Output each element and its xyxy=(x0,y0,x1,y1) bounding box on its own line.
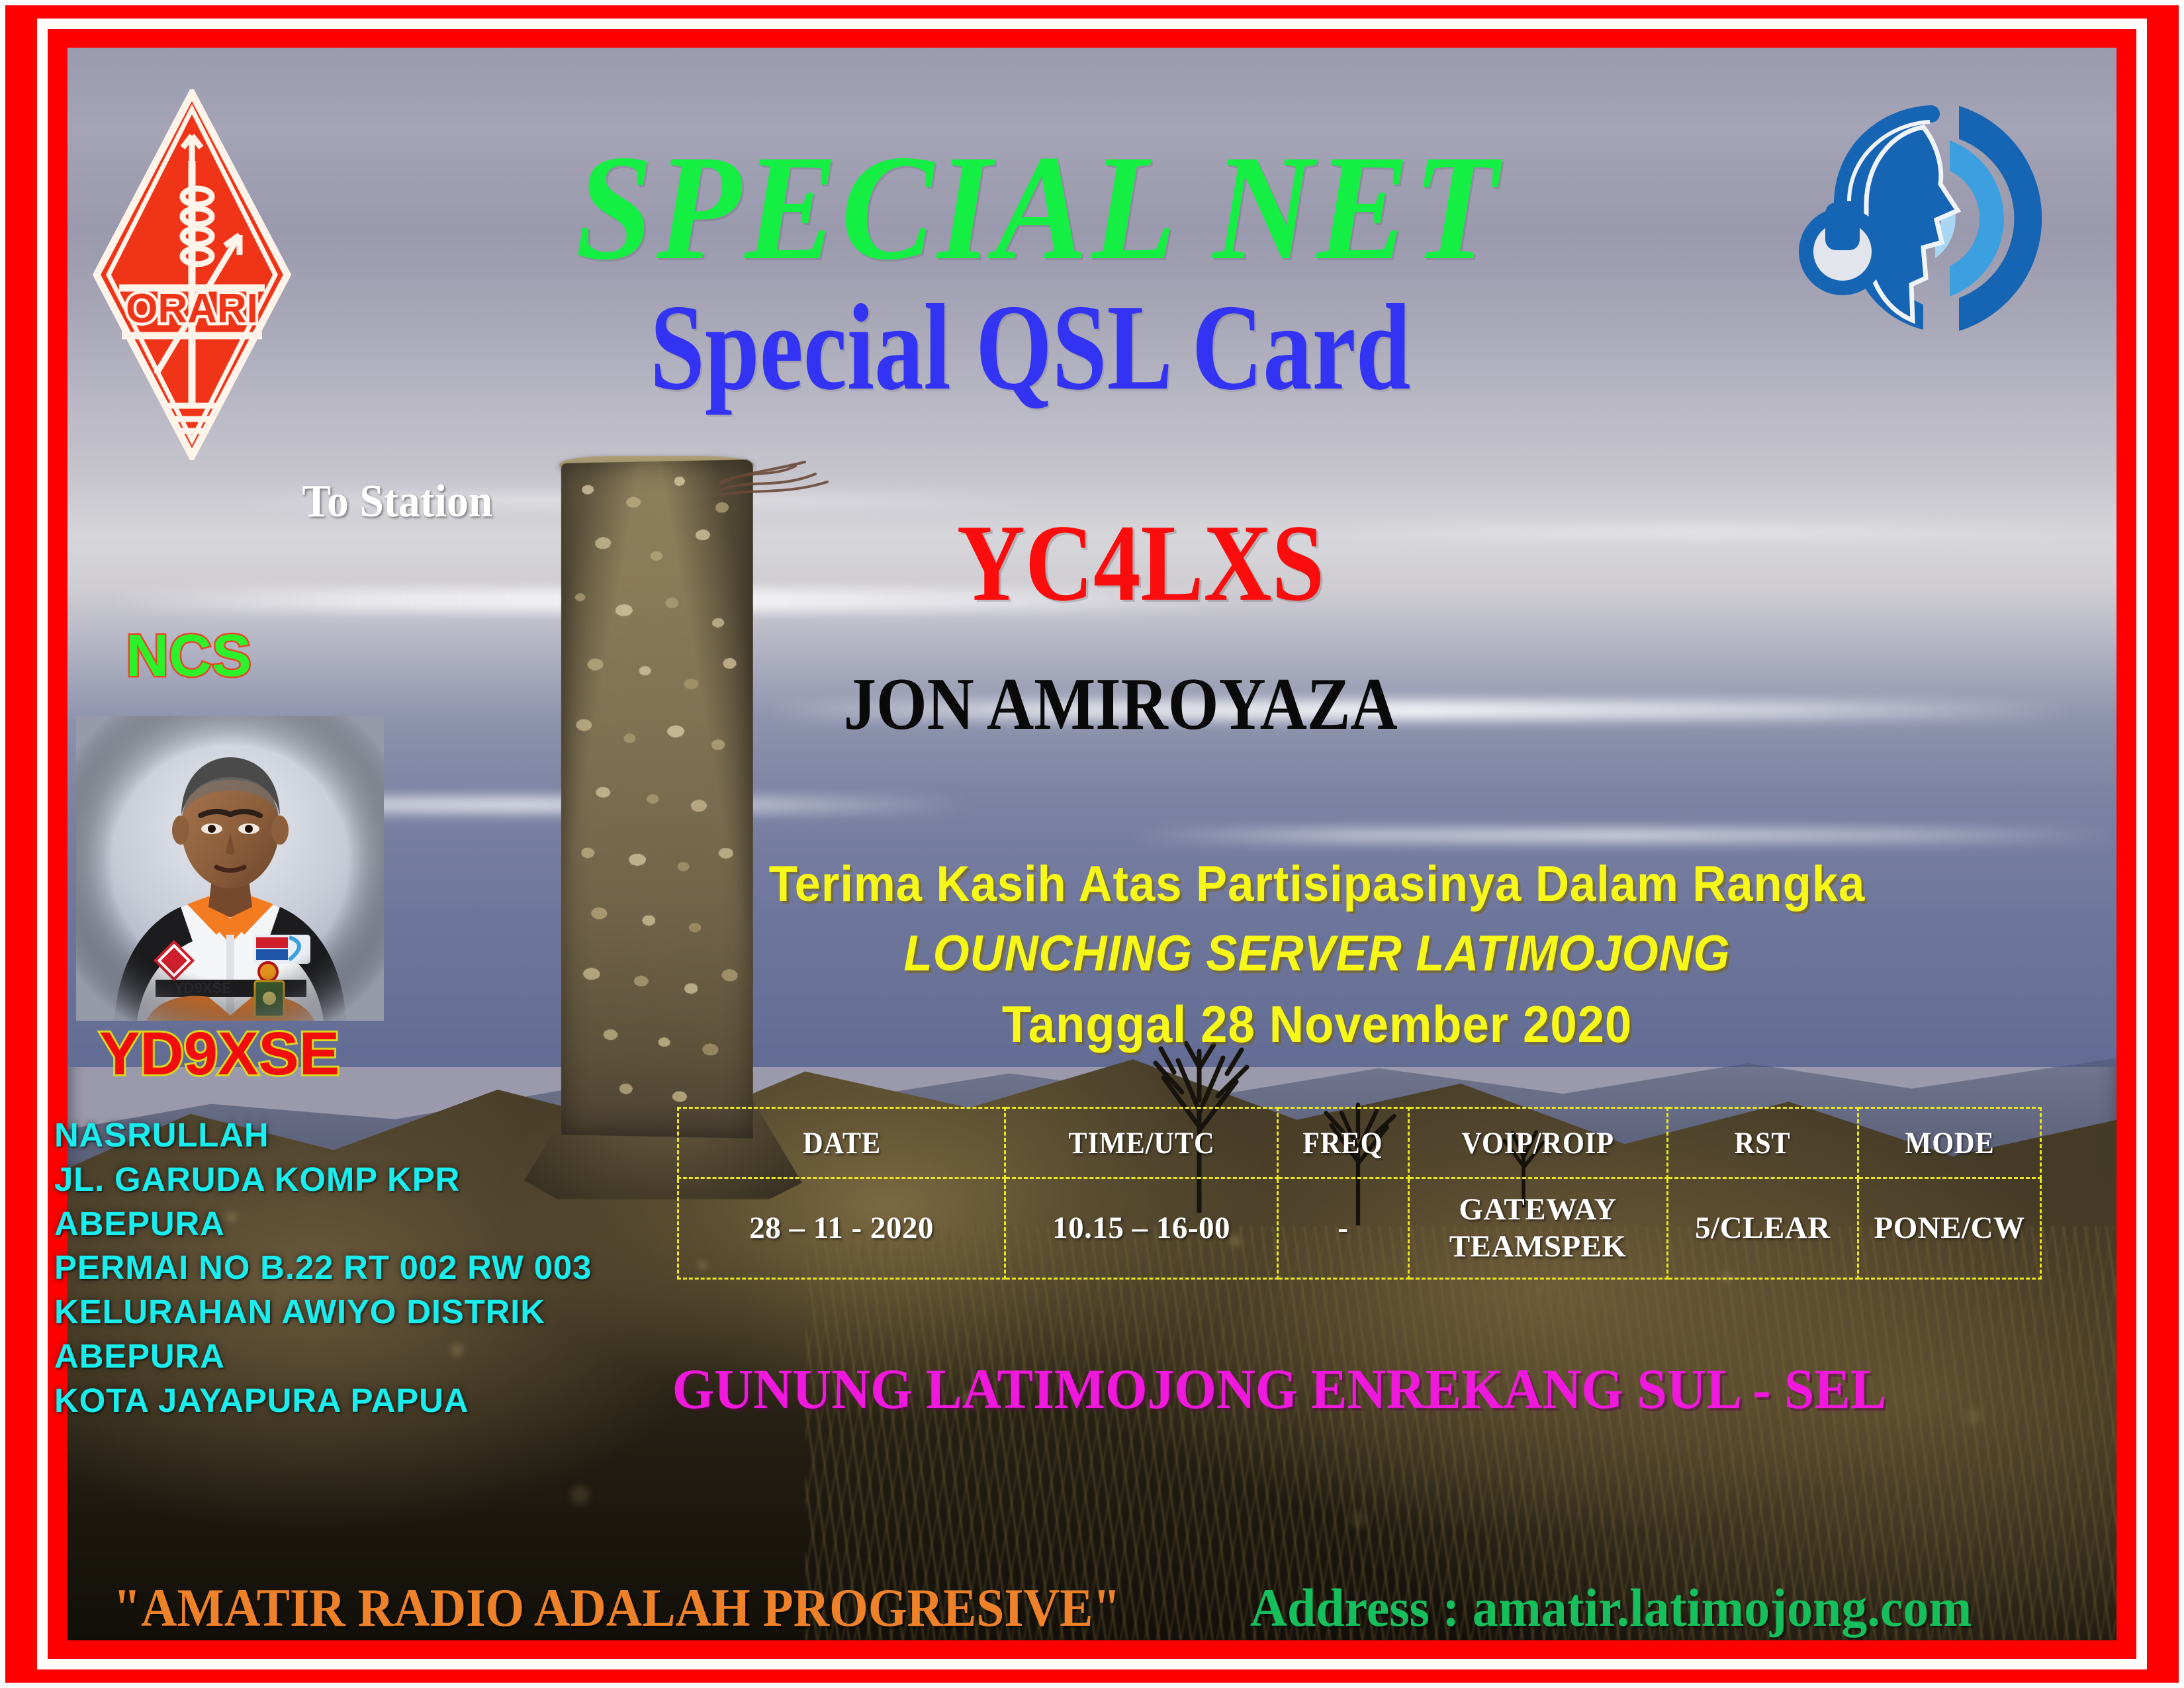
cell-mode: PONE/CW xyxy=(1858,1178,2041,1279)
ncs-operator-portrait: YD9XSE xyxy=(76,716,384,1021)
column-header-freq: FREQ xyxy=(1284,1108,1402,1178)
thanks-line-3-date: Tanggal 28 November 2020 xyxy=(714,994,1921,1055)
address-line: PERMAI NO B.22 RT 002 RW 003 xyxy=(54,1246,592,1290)
page-subtitle-qsl-card: Special QSL Card xyxy=(205,286,1844,409)
qsl-card: ORARI SPE xyxy=(0,0,2184,1688)
qso-log-table: DATE TIME/UTC FREQ VOIP/ROIP RST MODE 28… xyxy=(677,1107,2042,1280)
address-line: NASRULLAH xyxy=(54,1113,592,1158)
card-overlay-content: ORARI SPE xyxy=(0,0,2184,1688)
address-line: KELURAHAN AWIYO DISTRIK xyxy=(54,1290,592,1335)
thank-you-message: Terima Kasih Atas Partisipasinya Dalam R… xyxy=(668,855,1966,1055)
cell-time-utc: 10.15 – 16-00 xyxy=(1005,1178,1278,1279)
thanks-line-1: Terima Kasih Atas Partisipasinya Dalam R… xyxy=(714,855,1921,913)
cell-freq: - xyxy=(1277,1178,1408,1279)
cell-rst: 5/CLEAR xyxy=(1667,1178,1858,1279)
operator-name: JON AMIROYAZA xyxy=(123,662,1926,747)
cell-voip-line-1: GATEWAY xyxy=(1459,1192,1617,1227)
web-address-text: Address : amatir.latimojong.com xyxy=(1250,1577,1972,1639)
table-header-row: DATE TIME/UTC FREQ VOIP/ROIP RST MODE xyxy=(678,1108,2041,1178)
cell-voip-line-2: TEAMSPEK xyxy=(1449,1229,1627,1264)
address-line: ABEPURA xyxy=(54,1202,592,1246)
column-header-mode: MODE xyxy=(1867,1108,2031,1178)
cell-date: 28 – 11 - 2020 xyxy=(678,1178,1005,1279)
column-header-rst: RST xyxy=(1677,1108,1848,1178)
address-line: ABEPURA xyxy=(54,1335,592,1379)
ncs-operator-callsign: YD9XSE xyxy=(99,1019,340,1089)
ncs-label: NCS xyxy=(126,622,251,690)
table-row: 28 – 11 - 2020 10.15 – 16-00 - GATEWAY T… xyxy=(678,1178,2041,1279)
page-title-special-net: SPECIAL NET xyxy=(82,132,1967,283)
address-line: JL. GARUDA KOMP KPR xyxy=(54,1158,592,1202)
thanks-line-2-event: LOUNCHING SERVER LATIMOJONG xyxy=(714,925,1921,982)
mountain-location-caption: GUNUNG LATIMOJONG ENREKANG SUL - SEL xyxy=(655,1356,1887,1422)
cell-voip-roip: GATEWAY TEAMSPEK xyxy=(1408,1178,1667,1279)
address-line: KOTA JAYAPURA PAPUA xyxy=(54,1379,592,1423)
column-header-date: DATE xyxy=(694,1108,989,1178)
column-header-voip-roip: VOIP/ROIP xyxy=(1422,1108,1655,1178)
address-block: NASRULLAH JL. GARUDA KOMP KPR ABEPURA PE… xyxy=(54,1113,592,1423)
column-header-time-utc: TIME/UTC xyxy=(1019,1108,1264,1178)
station-callsign: YC4LXS xyxy=(144,500,1906,626)
slogan-text: "AMATIR RADIO ADALAH PROGRESIVE" xyxy=(113,1577,1120,1639)
